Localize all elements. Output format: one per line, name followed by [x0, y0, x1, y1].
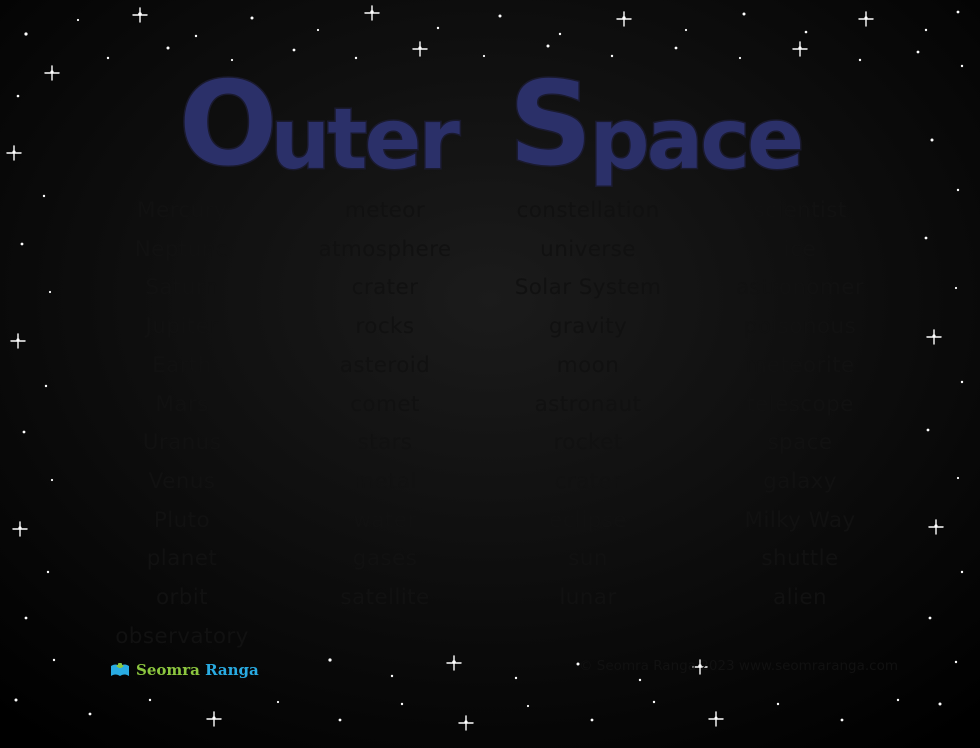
logo-word-ranga: Ranga [205, 661, 259, 679]
word-column-4: scientisticeastronomerpoisonousmeteorite… [692, 192, 908, 656]
word-item: astronaut [535, 386, 642, 425]
word-column-2: meteoratmospherecraterrocksasteroidcomet… [286, 192, 484, 656]
word-item: lunar [559, 579, 616, 618]
word-item: Neptune [135, 231, 230, 270]
word-item: eclipse [549, 502, 627, 541]
word-item: Pluto [154, 502, 210, 541]
word-item: metal [353, 463, 417, 502]
word-item: shuttle [761, 540, 838, 579]
word-item: Venus [149, 463, 216, 502]
word-item: Mercury [137, 192, 227, 231]
logo-word-seomra: Seomra [136, 661, 200, 679]
word-item: Solar System [515, 269, 662, 308]
word-item: Earth [152, 347, 212, 386]
word-item: poisonous [744, 308, 856, 347]
word-column-1: MercuryNeptuneSaturnJupiterEarthMarsUran… [78, 192, 286, 656]
word-item: stars [358, 424, 413, 463]
word-item: satellite [340, 579, 429, 618]
word-item: gravity [549, 308, 627, 347]
word-item: meteor [345, 192, 425, 231]
word-item: asteroid [340, 347, 430, 386]
word-item: rocket [553, 424, 622, 463]
word-item: astronomer [736, 269, 864, 308]
word-item: sun [568, 540, 608, 579]
word-item: scientist [753, 192, 846, 231]
word-item: gases [353, 540, 417, 579]
word-list-grid: MercuryNeptuneSaturnJupiterEarthMarsUran… [78, 192, 908, 656]
word-item: alien [773, 579, 827, 618]
word-item: orbit [156, 579, 208, 618]
open-book-icon [110, 662, 130, 678]
word-item: space [767, 424, 832, 463]
word-item: meteorite [745, 347, 854, 386]
word-item: Milky Way [744, 502, 855, 541]
copyright-notice: © Seomra Ranga 2023 www.seomraranga.com [579, 658, 898, 674]
word-column-3: constellationuniverseSolar Systemgravity… [484, 192, 692, 656]
word-item: ice [784, 231, 816, 270]
word-item: comet [350, 386, 420, 425]
word-item: water [353, 502, 416, 541]
word-item: constellation [517, 192, 660, 231]
word-mat-poster: O u t e r S p a c e MercuryNeptuneSaturn… [0, 0, 980, 748]
word-item: observatory [115, 618, 249, 657]
word-item: galaxy [763, 463, 837, 502]
seomra-ranga-logo[interactable]: Seomra Ranga [110, 661, 259, 679]
word-item: moon [557, 347, 619, 386]
word-item: planet [147, 540, 217, 579]
word-item: crater [352, 269, 419, 308]
word-item: Jupiter [146, 308, 219, 347]
word-item: rocks [356, 308, 415, 347]
word-item: universe [540, 231, 636, 270]
word-item: atmosphere [319, 231, 452, 270]
word-item: telescope [746, 386, 854, 425]
word-item: Mars [155, 386, 208, 425]
word-item: crater [555, 463, 622, 502]
word-item: Saturn [145, 269, 218, 308]
word-item: Uranus [143, 424, 222, 463]
